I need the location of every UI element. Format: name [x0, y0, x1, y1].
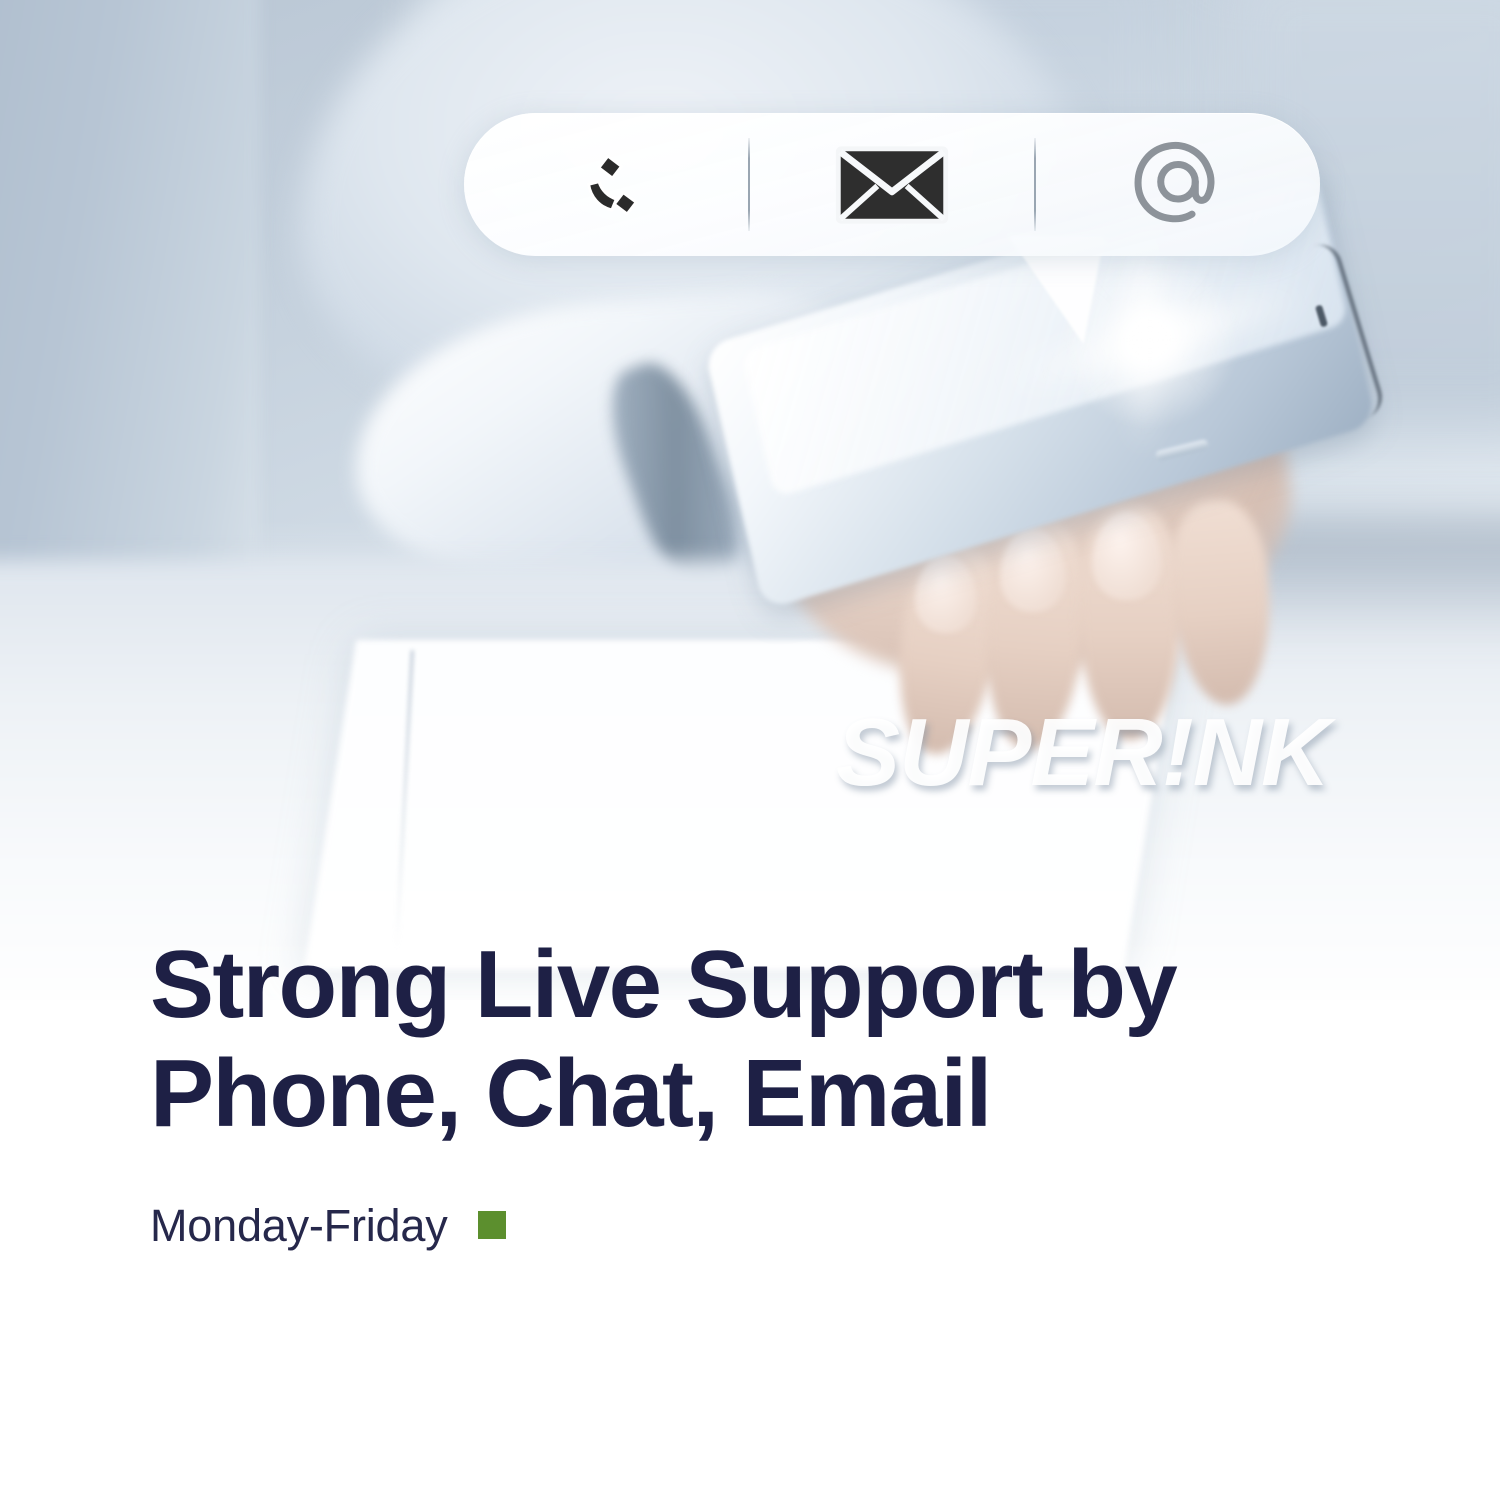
contact-method-phone[interactable] [464, 113, 748, 256]
text-block: Strong Live Support by Phone, Chat, Emai… [0, 930, 1500, 1248]
brand-watermark: SUPER!NK [836, 698, 1329, 808]
accent-square [478, 1211, 506, 1239]
phone-icon [565, 144, 647, 226]
contact-method-email[interactable] [750, 113, 1034, 256]
contact-method-at[interactable] [1036, 113, 1320, 256]
support-banner: SUPER!NK [0, 0, 1500, 1500]
availability-label: Monday-Friday [150, 1203, 448, 1248]
page-title: Strong Live Support by Phone, Chat, Emai… [0, 930, 1480, 1149]
subtitle-row: Monday-Friday [0, 1149, 1500, 1248]
at-sign-icon [1124, 131, 1232, 239]
envelope-icon [833, 143, 951, 227]
contact-methods-bar [464, 113, 1320, 256]
